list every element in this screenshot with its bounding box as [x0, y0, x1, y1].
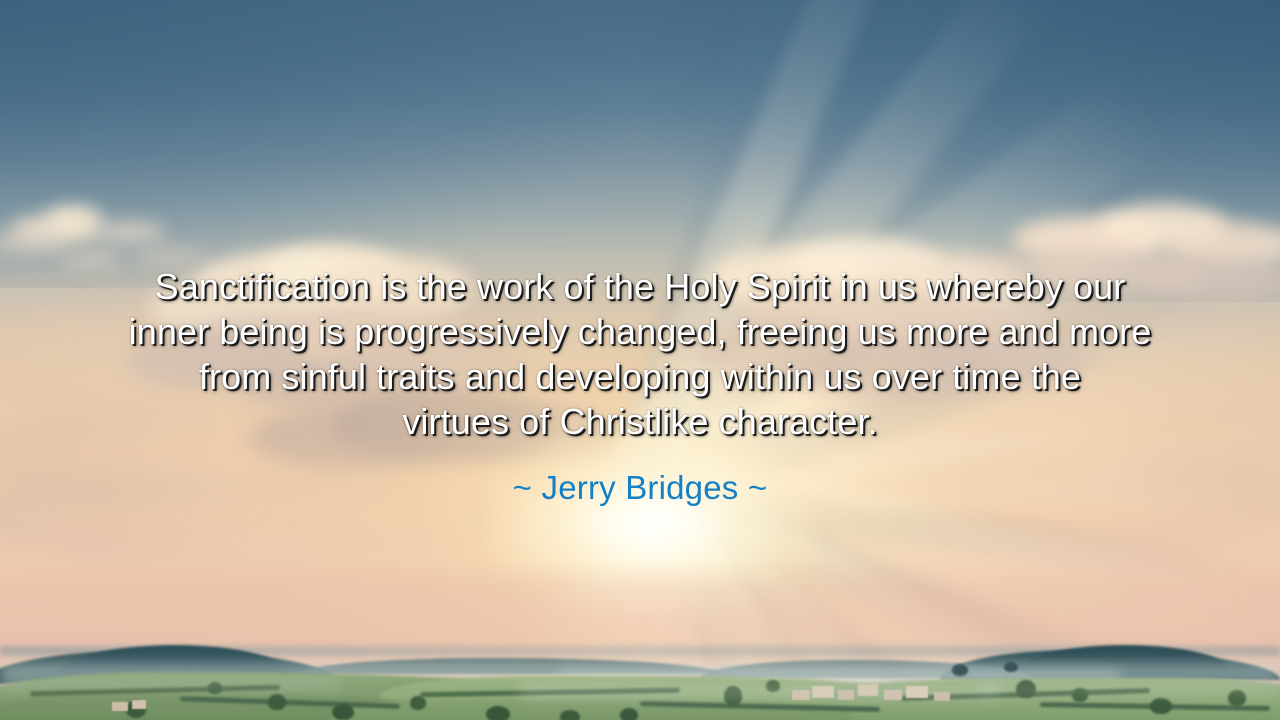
quote-image-canvas: Sanctification is the work of the Holy S… — [0, 0, 1280, 720]
quote-attribution: ~ Jerry Bridges ~ — [0, 468, 1280, 508]
quote-text: Sanctification is the work of the Holy S… — [70, 264, 1210, 444]
quote-container: Sanctification is the work of the Holy S… — [0, 264, 1280, 444]
